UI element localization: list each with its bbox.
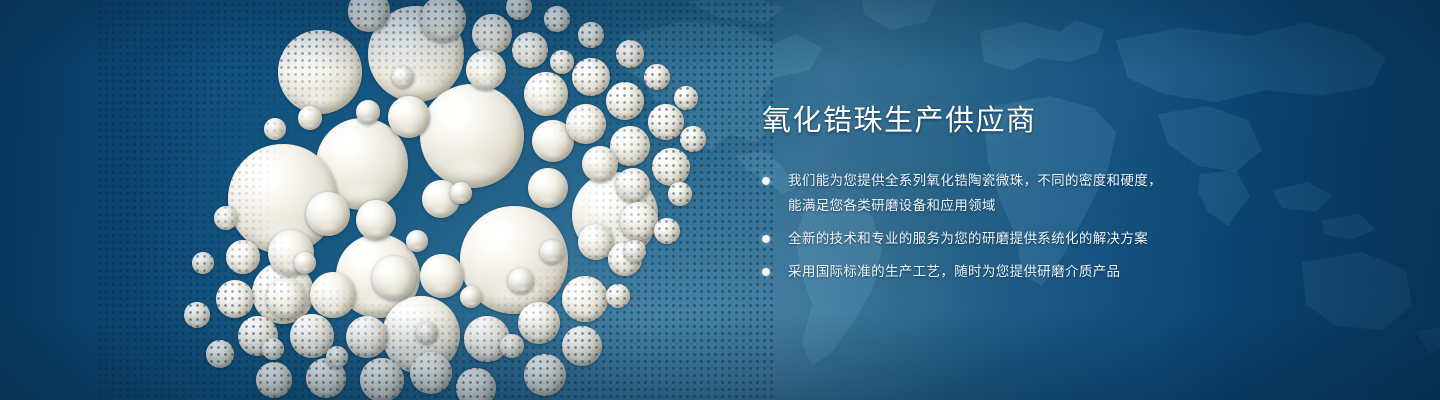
list-item: 我们能为您提供全系列氧化锆陶瓷微珠，不同的密度和硬度， 能满足您各类研磨设备和应… bbox=[762, 168, 1282, 218]
bullet-dot-icon bbox=[762, 177, 770, 185]
banner-headline: 氧化锆珠生产供应商 bbox=[762, 104, 1282, 138]
benefit-line: 采用国际标准的生产工艺，随时为您提供研磨介质产品 bbox=[788, 259, 1282, 284]
benefit-line: 我们能为您提供全系列氧化锆陶瓷微珠，不同的密度和硬度， bbox=[788, 168, 1282, 193]
list-item: 全新的技术和专业的服务为您的研磨提供系统化的解决方案 bbox=[762, 226, 1282, 251]
benefit-list: 我们能为您提供全系列氧化锆陶瓷微珠，不同的密度和硬度， 能满足您各类研磨设备和应… bbox=[762, 168, 1282, 284]
bullet-dot-icon bbox=[762, 268, 770, 276]
banner-copy: 氧化锆珠生产供应商 我们能为您提供全系列氧化锆陶瓷微珠，不同的密度和硬度， 能满… bbox=[762, 104, 1282, 284]
bullet-dot-icon bbox=[762, 235, 770, 243]
list-item: 采用国际标准的生产工艺，随时为您提供研磨介质产品 bbox=[762, 259, 1282, 284]
benefit-line: 全新的技术和专业的服务为您的研磨提供系统化的解决方案 bbox=[788, 226, 1282, 251]
benefit-line: 能满足您各类研磨设备和应用领域 bbox=[788, 193, 1282, 218]
hero-banner: 氧化锆珠生产供应商 我们能为您提供全系列氧化锆陶瓷微珠，不同的密度和硬度， 能满… bbox=[0, 0, 1440, 400]
